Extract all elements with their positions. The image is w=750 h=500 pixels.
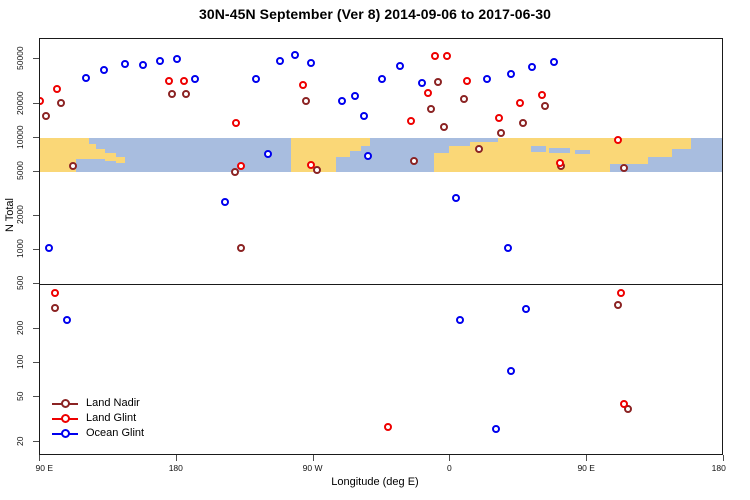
data-point-land-glint bbox=[232, 119, 240, 127]
x-tick-label: 90 E bbox=[577, 463, 595, 473]
map-ocean-region bbox=[672, 149, 690, 171]
y-tick bbox=[33, 328, 39, 329]
data-point-land-glint bbox=[617, 289, 625, 297]
data-point-land-glint bbox=[614, 136, 622, 144]
data-point-ocean-glint bbox=[252, 75, 260, 83]
data-point-land-nadir bbox=[168, 90, 176, 98]
legend-marker-icon bbox=[61, 399, 70, 408]
map-land-region bbox=[498, 138, 519, 172]
map-land-region bbox=[470, 142, 497, 172]
data-point-land-nadir bbox=[57, 99, 65, 107]
x-tick bbox=[39, 455, 40, 461]
data-point-land-glint bbox=[180, 77, 188, 85]
y-tick bbox=[33, 103, 39, 104]
data-point-ocean-glint bbox=[100, 66, 108, 74]
data-point-ocean-glint bbox=[307, 59, 315, 67]
y-tick-label: 500 bbox=[9, 263, 31, 303]
data-point-land-nadir bbox=[182, 90, 190, 98]
y-tick-label: 50 bbox=[9, 376, 31, 416]
y-tick bbox=[33, 137, 39, 138]
x-tick-label: 180 bbox=[169, 463, 183, 473]
data-point-land-nadir bbox=[410, 157, 418, 165]
data-point-land-glint bbox=[53, 85, 61, 93]
data-point-land-nadir bbox=[620, 164, 628, 172]
x-tick-label: 90 E bbox=[36, 463, 54, 473]
data-point-land-glint bbox=[620, 400, 628, 408]
plot-area bbox=[39, 38, 723, 455]
map-land-region bbox=[336, 138, 350, 158]
map-land-region bbox=[539, 138, 563, 145]
map-ocean-region bbox=[434, 138, 449, 153]
data-point-land-nadir bbox=[302, 97, 310, 105]
data-point-land-glint bbox=[463, 77, 471, 85]
legend-marker-icon bbox=[61, 414, 70, 423]
data-point-land-glint bbox=[307, 161, 315, 169]
y-tick-label: 2000 bbox=[9, 195, 31, 235]
data-point-land-nadir bbox=[460, 95, 468, 103]
legend-label: Land Glint bbox=[86, 411, 136, 426]
map-land-region bbox=[449, 146, 470, 171]
x-tick bbox=[313, 455, 314, 461]
y-tick-label: 20 bbox=[9, 421, 31, 461]
y-tick bbox=[33, 362, 39, 363]
map-land-region bbox=[105, 153, 116, 160]
map-land-region bbox=[89, 144, 97, 160]
data-point-ocean-glint bbox=[550, 58, 558, 66]
data-point-ocean-glint bbox=[378, 75, 386, 83]
data-point-land-glint bbox=[407, 117, 415, 125]
reference-line-500 bbox=[40, 284, 722, 285]
data-point-land-nadir bbox=[440, 123, 448, 131]
legend-label: Land Nadir bbox=[86, 396, 140, 411]
data-point-land-glint bbox=[431, 52, 439, 60]
data-point-ocean-glint bbox=[522, 305, 530, 313]
data-point-ocean-glint bbox=[396, 62, 404, 70]
map-ocean-region bbox=[370, 138, 434, 172]
data-point-ocean-glint bbox=[45, 244, 53, 252]
map-ocean-region bbox=[691, 138, 722, 172]
data-point-land-glint bbox=[495, 114, 503, 122]
data-point-ocean-glint bbox=[418, 79, 426, 87]
data-point-land-nadir bbox=[69, 162, 77, 170]
data-point-ocean-glint bbox=[264, 150, 272, 158]
x-tick-label: 90 W bbox=[303, 463, 323, 473]
y-tick-label: 20000 bbox=[9, 83, 31, 123]
data-point-land-glint bbox=[165, 77, 173, 85]
y-tick bbox=[33, 396, 39, 397]
data-point-land-nadir bbox=[614, 301, 622, 309]
data-point-land-glint bbox=[299, 81, 307, 89]
map-ocean-region bbox=[531, 146, 546, 152]
map-ocean-region bbox=[648, 157, 672, 172]
data-point-ocean-glint bbox=[507, 70, 515, 78]
data-point-land-nadir bbox=[237, 244, 245, 252]
data-point-ocean-glint bbox=[276, 57, 284, 65]
data-point-land-glint bbox=[51, 289, 59, 297]
chart-title: 30N-45N September (Ver 8) 2014-09-06 to … bbox=[0, 6, 750, 22]
map-ocean-region bbox=[470, 138, 497, 142]
data-point-land-glint bbox=[39, 97, 44, 105]
data-point-ocean-glint bbox=[528, 63, 536, 71]
data-point-land-nadir bbox=[519, 119, 527, 127]
y-tick-label: 100 bbox=[9, 342, 31, 382]
data-point-land-nadir bbox=[427, 105, 435, 113]
data-point-ocean-glint bbox=[492, 425, 500, 433]
data-point-land-glint bbox=[556, 159, 564, 167]
data-point-ocean-glint bbox=[139, 61, 147, 69]
map-ocean-region bbox=[549, 148, 570, 153]
data-point-ocean-glint bbox=[456, 316, 464, 324]
y-tick bbox=[33, 283, 39, 284]
y-tick-label: 200 bbox=[9, 308, 31, 348]
data-point-ocean-glint bbox=[507, 367, 515, 375]
data-point-land-nadir bbox=[497, 129, 505, 137]
data-point-ocean-glint bbox=[452, 194, 460, 202]
data-point-ocean-glint bbox=[121, 60, 129, 68]
data-point-land-nadir bbox=[434, 78, 442, 86]
data-point-ocean-glint bbox=[63, 316, 71, 324]
map-land-region bbox=[350, 138, 361, 152]
y-tick-label: 1000 bbox=[9, 229, 31, 269]
data-point-land-glint bbox=[516, 99, 524, 107]
data-point-ocean-glint bbox=[156, 57, 164, 65]
data-point-ocean-glint bbox=[364, 152, 372, 160]
data-point-ocean-glint bbox=[483, 75, 491, 83]
y-tick bbox=[33, 441, 39, 442]
data-point-ocean-glint bbox=[191, 75, 199, 83]
x-tick bbox=[449, 455, 450, 461]
x-tick bbox=[586, 455, 587, 461]
data-point-land-nadir bbox=[541, 102, 549, 110]
data-point-land-nadir bbox=[51, 304, 59, 312]
map-land-region bbox=[96, 149, 105, 159]
map-ocean-region bbox=[575, 150, 590, 154]
y-tick bbox=[33, 215, 39, 216]
legend-marker-icon bbox=[61, 429, 70, 438]
y-tick bbox=[33, 249, 39, 250]
y-tick bbox=[33, 171, 39, 172]
data-point-land-glint bbox=[424, 89, 432, 97]
chart-root: 30N-45N September (Ver 8) 2014-09-06 to … bbox=[0, 0, 750, 500]
map-ocean-region bbox=[610, 164, 648, 171]
x-tick-label: 0 bbox=[447, 463, 452, 473]
data-point-land-glint bbox=[384, 423, 392, 431]
data-point-land-glint bbox=[443, 52, 451, 60]
data-point-ocean-glint bbox=[504, 244, 512, 252]
x-tick-label: 180 bbox=[712, 463, 726, 473]
y-tick bbox=[33, 58, 39, 59]
data-point-ocean-glint bbox=[360, 112, 368, 120]
map-land-region bbox=[116, 157, 125, 162]
data-point-land-glint bbox=[237, 162, 245, 170]
map-land-region bbox=[76, 138, 88, 160]
data-point-ocean-glint bbox=[173, 55, 181, 63]
map-ocean-region bbox=[449, 138, 470, 147]
x-tick bbox=[176, 455, 177, 461]
data-point-ocean-glint bbox=[338, 97, 346, 105]
x-tick bbox=[723, 455, 724, 461]
data-point-ocean-glint bbox=[82, 74, 90, 82]
data-point-land-nadir bbox=[42, 112, 50, 120]
legend-label: Ocean Glint bbox=[86, 426, 144, 441]
data-point-land-glint bbox=[538, 91, 546, 99]
y-tick-label: 50000 bbox=[9, 38, 31, 78]
map-land-region bbox=[361, 138, 370, 146]
map-land-region bbox=[434, 153, 449, 172]
data-point-ocean-glint bbox=[291, 51, 299, 59]
x-axis-title: Longitude (deg E) bbox=[0, 476, 750, 488]
data-point-land-nadir bbox=[475, 145, 483, 153]
data-point-ocean-glint bbox=[351, 92, 359, 100]
data-point-ocean-glint bbox=[221, 198, 229, 206]
